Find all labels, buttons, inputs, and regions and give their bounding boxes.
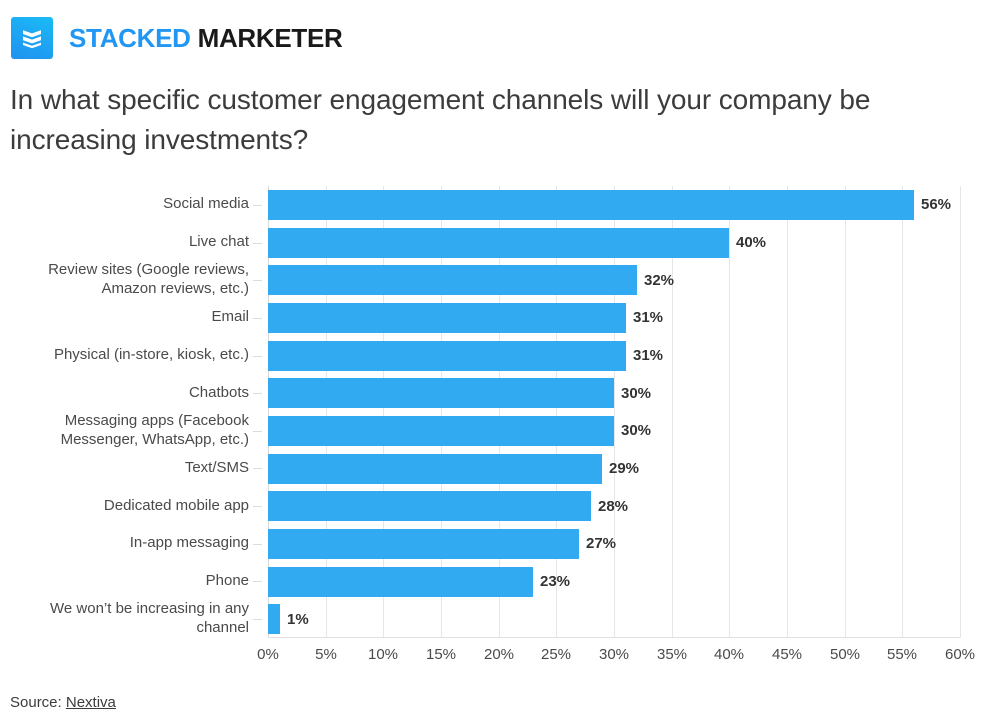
bar-row[interactable]: 31% [268,341,960,371]
category-tick [253,431,262,432]
bar-row[interactable]: 31% [268,303,960,333]
category-tick [253,280,262,281]
category-tick [253,506,262,507]
bar[interactable] [268,529,579,559]
bar-value-label: 27% [586,536,616,551]
bar-row[interactable]: 27% [268,529,960,559]
bar-row[interactable]: 1% [268,604,960,634]
x-tick-label: 5% [315,646,337,663]
bar[interactable] [268,228,729,258]
category-tick [253,318,262,319]
category-label: Dedicated mobile app [104,497,249,516]
category-label: Physical (in-store, kiosk, etc.) [54,346,249,365]
bar-value-label: 28% [598,499,628,514]
x-tick-label: 50% [830,646,860,663]
bar[interactable] [268,604,280,634]
bar[interactable] [268,454,602,484]
category-tick [253,356,262,357]
category-label: Live chat [189,233,249,252]
category-tick [253,619,262,620]
category-label: Chatbots [189,384,249,403]
bar-row[interactable]: 29% [268,454,960,484]
source-link[interactable]: Nextiva [66,694,116,711]
x-axis-baseline [268,637,960,638]
category-tick [253,544,262,545]
category-label: Email [211,308,249,327]
bar-chart: Social mediaLive chatReview sites (Googl… [0,186,981,646]
bar[interactable] [268,303,626,333]
category-label: Phone [206,572,249,591]
brand-header: STACKED MARKETER [11,17,343,59]
bar[interactable] [268,265,637,295]
chart-page: STACKED MARKETER In what specific custom… [0,0,981,726]
x-tick-label: 30% [599,646,629,663]
bar[interactable] [268,567,533,597]
category-axis: Social mediaLive chatReview sites (Googl… [0,186,268,638]
bar-value-label: 29% [609,461,639,476]
bar-value-label: 30% [621,423,651,438]
x-tick-label: 35% [657,646,687,663]
bar-value-label: 31% [633,348,663,363]
bar-row[interactable]: 32% [268,265,960,295]
category-label: In-app messaging [130,534,249,553]
brand-name: STACKED MARKETER [69,25,343,51]
category-tick [253,581,262,582]
bar-value-label: 30% [621,386,651,401]
category-tick [253,243,262,244]
category-label: Messaging apps (Facebook Messenger, What… [61,412,249,450]
brand-name-primary: STACKED [69,23,191,53]
x-tick-label: 60% [945,646,975,663]
stacked-chevrons-icon [11,17,53,59]
source-prefix: Source: [10,694,62,711]
x-tick-label: 45% [772,646,802,663]
bar[interactable] [268,491,591,521]
bar-row[interactable]: 30% [268,378,960,408]
category-label: We won’t be increasing in any channel [50,600,249,638]
category-label: Review sites (Google reviews, Amazon rev… [48,261,249,299]
x-tick-label: 10% [368,646,398,663]
x-tick-label: 20% [484,646,514,663]
gridline-60 [960,186,961,638]
bar-value-label: 23% [540,574,570,589]
bar-value-label: 56% [921,197,951,212]
x-tick-label: 0% [257,646,279,663]
bar-row[interactable]: 56% [268,190,960,220]
chart-title: In what specific customer engagement cha… [10,80,945,160]
bar-row[interactable]: 23% [268,567,960,597]
x-tick-label: 25% [541,646,571,663]
brand-name-secondary: MARKETER [198,23,343,53]
bar-value-label: 1% [287,612,309,627]
bar-value-label: 40% [736,235,766,250]
category-label: Social media [163,195,249,214]
bar[interactable] [268,341,626,371]
bar-row[interactable]: 28% [268,491,960,521]
bar-value-label: 31% [633,310,663,325]
bar-value-label: 32% [644,273,674,288]
source-note: Source: Nextiva [10,694,116,711]
category-label: Text/SMS [185,459,249,478]
bar[interactable] [268,378,614,408]
category-tick [253,205,262,206]
plot-area: 56%40%32%31%31%30%30%29%28%27%23%1% [268,186,960,638]
x-tick-label: 40% [714,646,744,663]
x-tick-label: 55% [887,646,917,663]
category-tick [253,393,262,394]
bar[interactable] [268,190,914,220]
bar[interactable] [268,416,614,446]
value-axis: 0%5%10%15%20%25%30%35%40%45%50%55%60% [268,640,960,670]
x-tick-label: 15% [426,646,456,663]
category-tick [253,468,262,469]
bar-row[interactable]: 40% [268,228,960,258]
bar-rows: 56%40%32%31%31%30%30%29%28%27%23%1% [268,186,960,638]
bar-row[interactable]: 30% [268,416,960,446]
